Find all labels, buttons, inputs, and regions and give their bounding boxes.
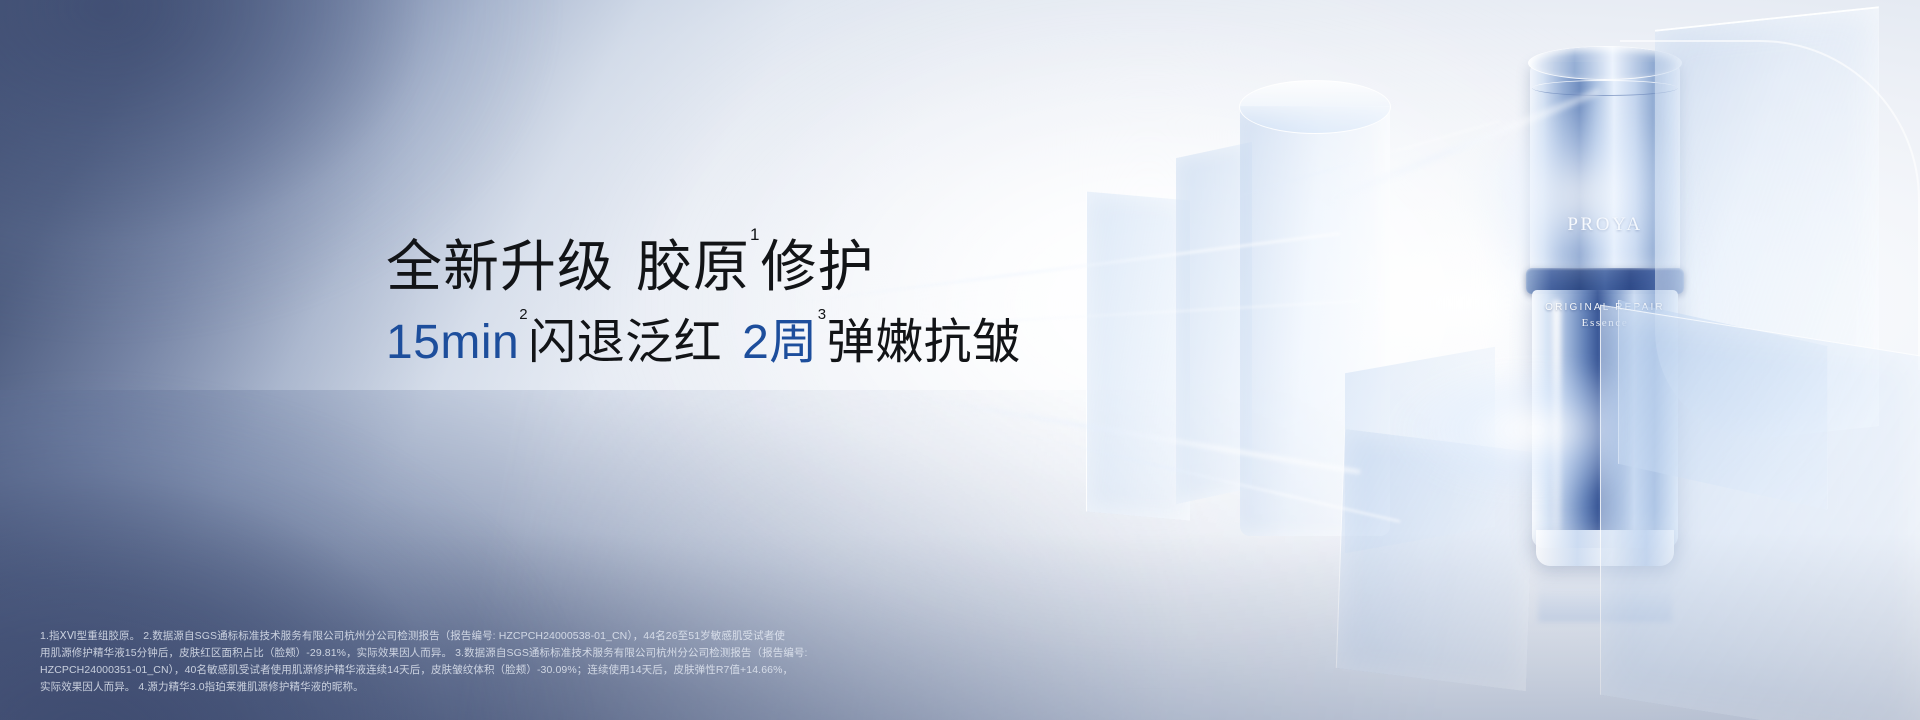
subheadline-text-1: 闪退泛红	[528, 316, 722, 369]
headline: 全新升级胶原1修护	[386, 234, 1021, 300]
promo-banner: PROYA ORIGINAL REPAIR Essence 全新升级胶原1修护 …	[0, 0, 1920, 720]
footnotes-block: 1.指ⅩⅥ型重组胶原。 2.数据源自SGS通标标准技术服务有限公司杭州分公司检测…	[40, 628, 930, 696]
footnote-line: 实际效果因人而异。 4.源力精华3.0指珀莱雅肌源修护精华液的昵称。	[40, 679, 930, 696]
headline-part-3: 修护	[760, 235, 874, 298]
footnote-line: HZCPCH24000351-01_CN），40名敏感肌受试者使用肌源修护精华液…	[40, 662, 930, 679]
subheadline-accent-2weeks: 2周	[742, 316, 818, 369]
subheadline-footnote-marker-3: 3	[818, 306, 827, 323]
subheadline-accent-15min: 15min	[386, 316, 519, 369]
subheadline: 15min2闪退泛红2周3弹嫩抗皱	[386, 314, 1021, 372]
headline-part-2: 胶原	[636, 235, 750, 298]
subheadline-footnote-marker-2: 2	[519, 306, 528, 323]
footnote-line: 用肌源修护精华液15分钟后，皮肤红区面积占比（脸颊）-29.81%，实际效果因人…	[40, 645, 930, 662]
headline-footnote-marker-1: 1	[750, 225, 760, 244]
copy-block: 全新升级胶原1修护 15min2闪退泛红2周3弹嫩抗皱	[386, 234, 1021, 372]
headline-part-1: 全新升级	[386, 235, 614, 298]
subheadline-text-2: 弹嫩抗皱	[827, 316, 1021, 369]
footnote-line: 1.指ⅩⅥ型重组胶原。 2.数据源自SGS通标标准技术服务有限公司杭州分公司检测…	[40, 628, 930, 645]
